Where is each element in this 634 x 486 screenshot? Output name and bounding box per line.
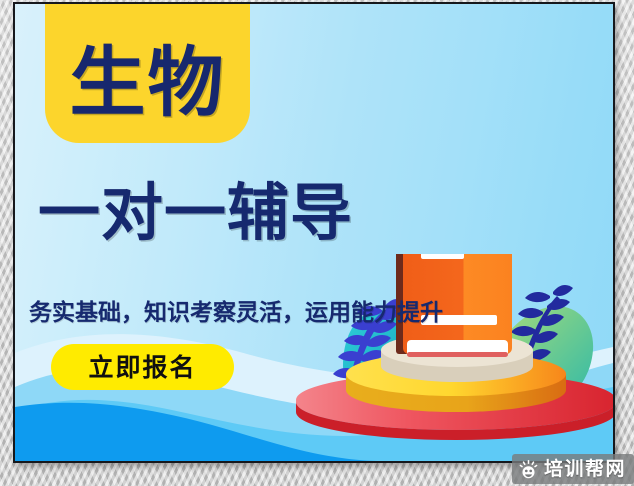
subtitle-text: 务实基础，知识考察灵活，运用能力提升 [29,293,443,327]
book-page-shadow [407,352,508,357]
enroll-now-button-label: 立即报名 [88,355,196,380]
book-line-2 [421,254,464,259]
enroll-now-button[interactable]: 立即报名 [51,344,234,390]
subject-badge-label: 生物 [70,45,226,121]
subject-badge: 生物 [45,2,250,143]
page-backdrop: 生物 一对一辅导 务实基础，知识考察灵活，运用能力提升 立即报名 [0,0,634,486]
site-watermark: 培训帮网 [512,454,634,484]
page-title: 一对一辅导 [38,182,353,244]
book-podium-illustration [295,254,615,454]
advertisement-banner: 生物 一对一辅导 务实基础，知识考察灵活，运用能力提升 立即报名 [13,2,615,463]
watermark-text: 培训帮网 [544,460,626,479]
smiley-sun-logo-icon [519,460,538,479]
